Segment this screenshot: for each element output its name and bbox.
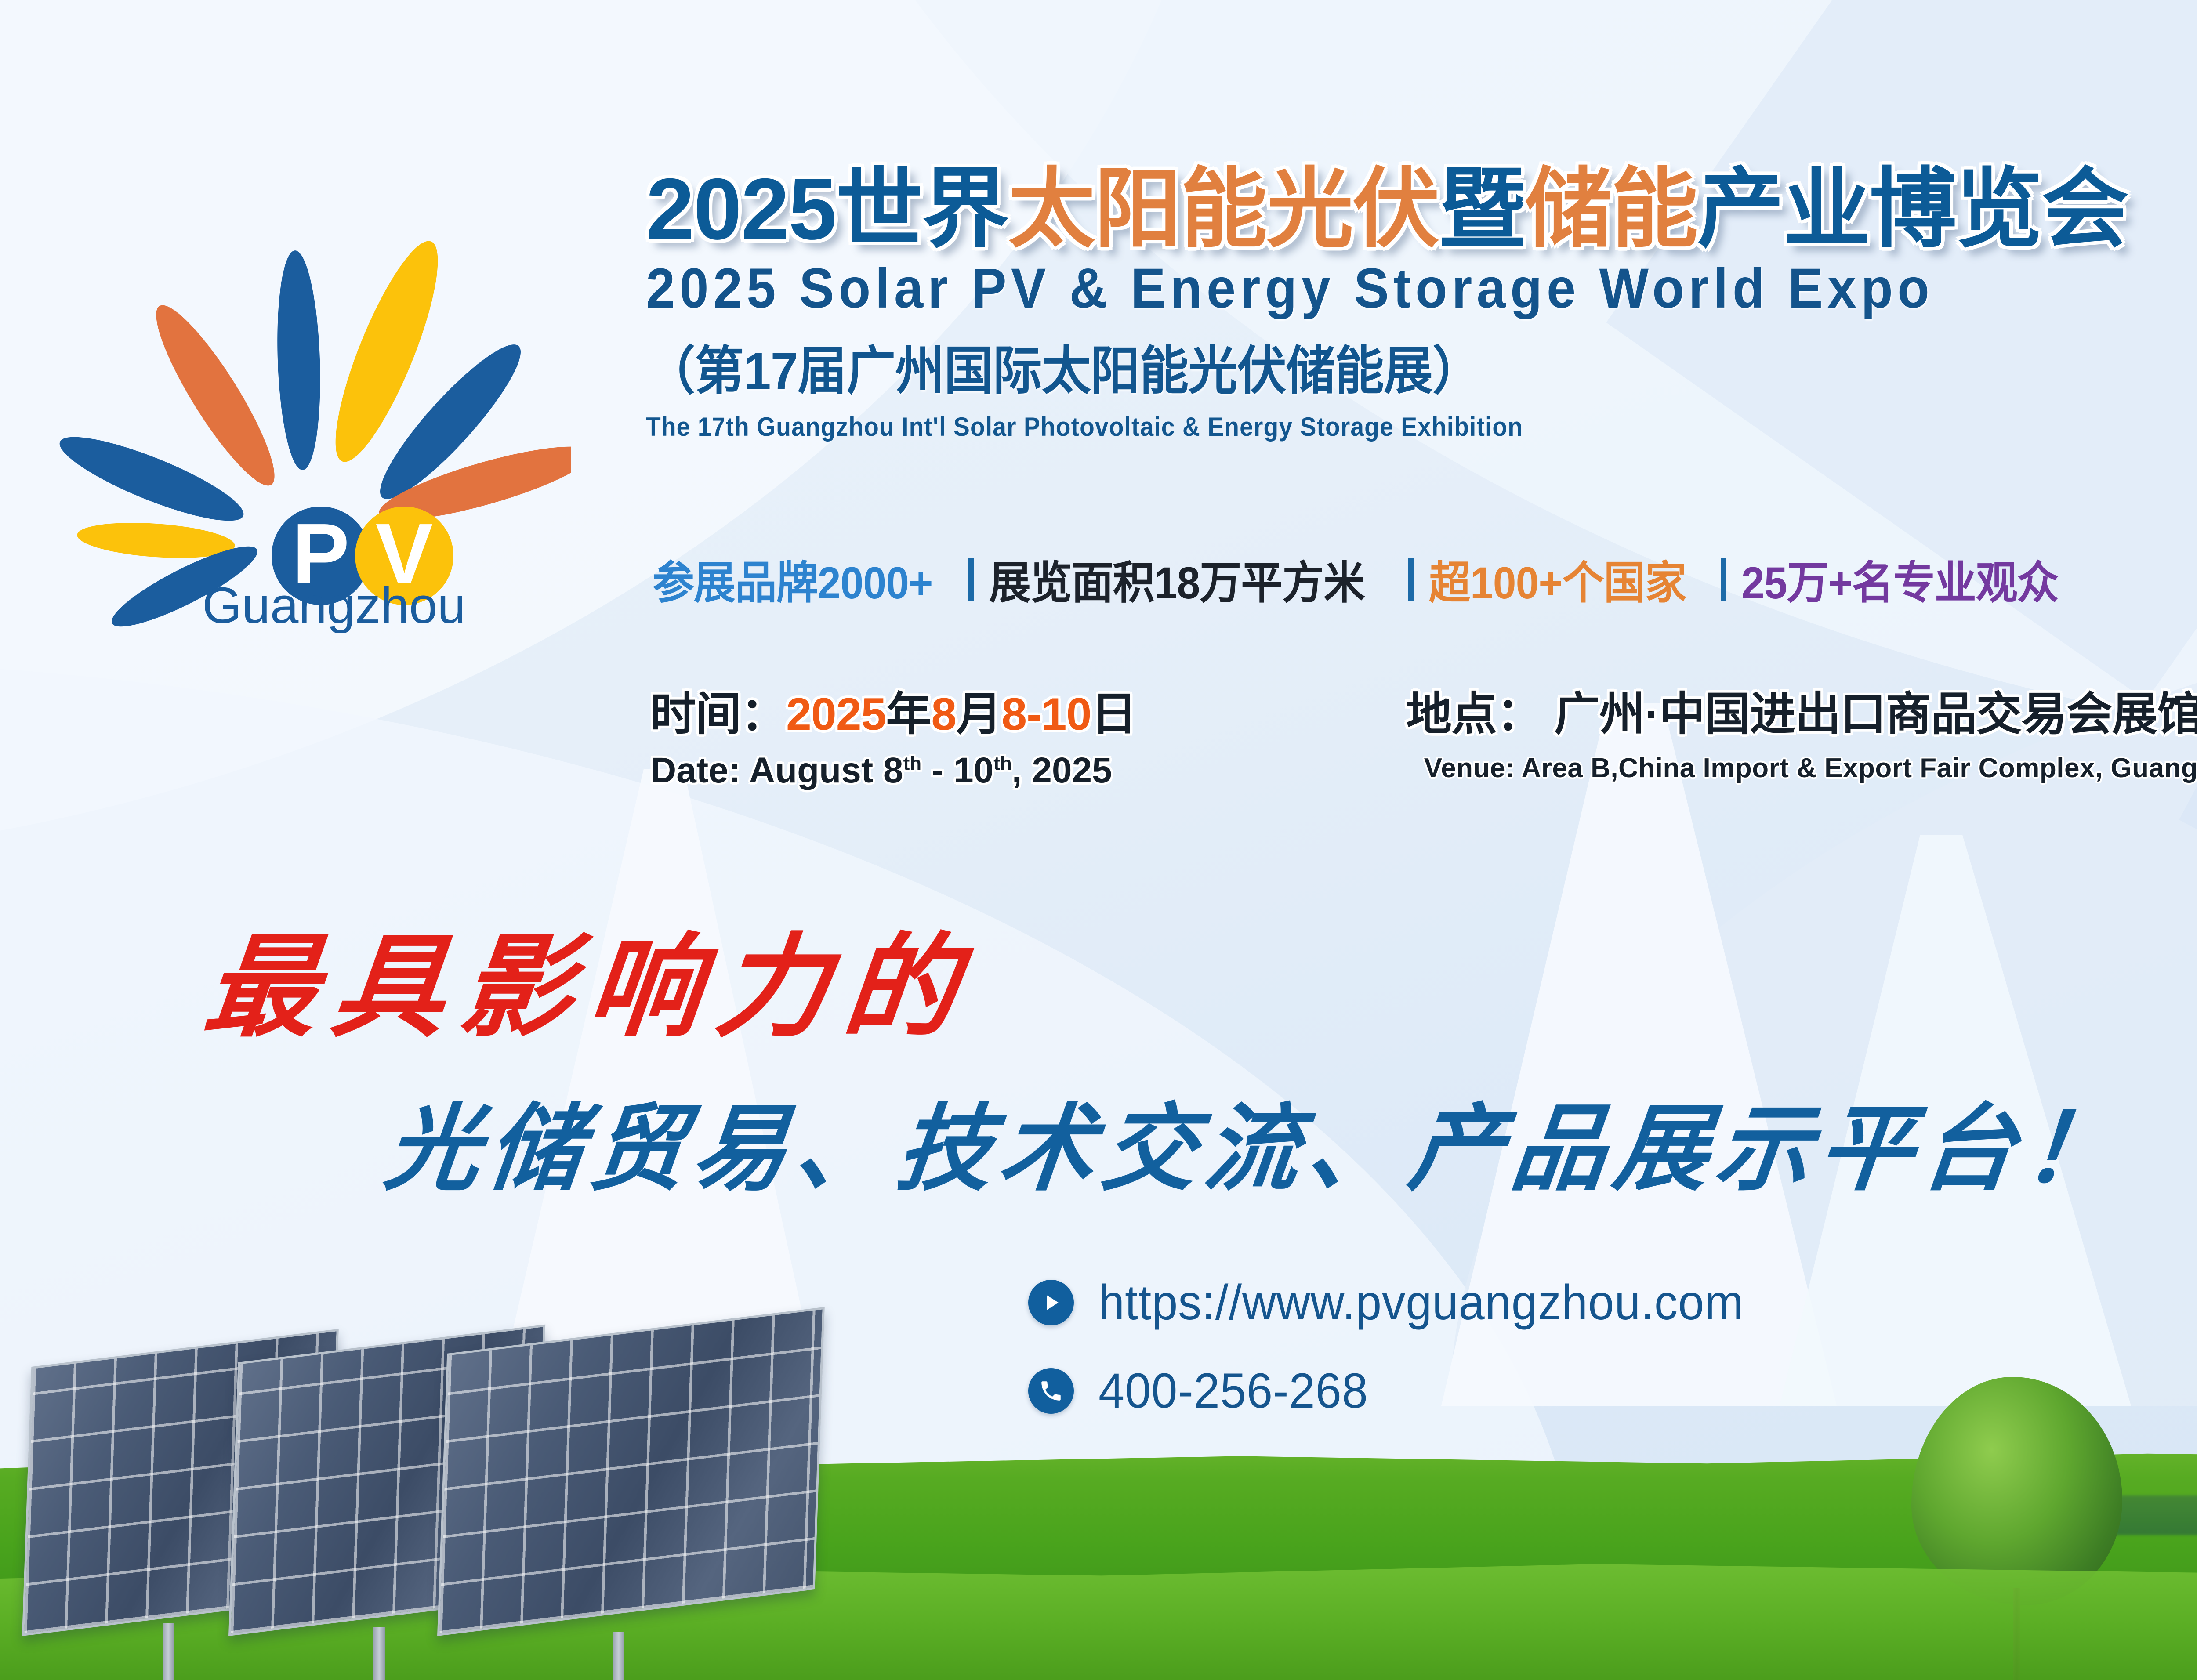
main-title-part-5: 产业博览会 [1697,160,2128,257]
stats-row: 参展品牌2000+ 展览面积18万平方米 超100+个国家 25万+名专业观众 [653,547,2082,612]
stat-separator [968,558,974,601]
date-label: 时间： [650,689,786,740]
main-title-part-1: 2025世界 [646,160,1008,257]
website-url[interactable]: https://www.pvguangzhou.com [1098,1274,1744,1331]
venue-english: Venue: Area B,China Import & Export Fair… [1406,753,2197,784]
stat-countries: 超100+个国家 [1429,547,1686,612]
phone-circle-icon [1028,1368,1074,1414]
date-english-prefix: Date: August 8 [650,750,903,790]
website-row[interactable]: https://www.pvguangzhou.com [1028,1274,1778,1331]
date-day-unit: 日 [1091,689,1136,740]
main-title: 2025世界太阳能光伏暨储能产业博览会 [646,165,2197,253]
main-title-part-3: 暨 [1439,160,1525,257]
date-month-unit: 月 [956,689,1001,740]
date-chinese: 时间：2025年8月8-10日 [650,677,1136,743]
main-title-part-2: 太阳能光伏 [1008,160,1439,257]
date-month: 8 [931,689,956,740]
main-title-part-4: 储能 [1525,160,1697,257]
pv-guangzhou-logo[interactable]: P V Guangzhou [53,176,571,633]
venue-chinese: 地点： 广州·中国进出口商品交易会展馆B区 [1406,677,2197,743]
stat-separator [1408,558,1414,601]
date-year-unit: 年 [886,689,931,740]
slogan-line-1: 最具影响力的 [198,896,982,1058]
date-ordinal-2: th [993,753,1012,775]
play-circle-icon [1028,1280,1074,1325]
date-english-suffix: , 2025 [1012,750,1112,790]
stat-exhibiting-brands: 参展品牌2000+ [653,547,933,612]
subtitle-chinese: （第17届广州国际太阳能光伏储能展） [646,329,2197,404]
contact-block: https://www.pvguangzhou.com 400-256-268 [1028,1274,1778,1419]
date-english: Date: August 8th - 10th, 2025 [650,750,1136,791]
stat-visitors: 25万+名专业观众 [1741,547,2059,612]
date-days: 8-10 [1001,689,1091,740]
stat-exhibition-area: 展览面积18万平方米 [989,547,1365,612]
main-title-english: 2025 Solar PV & Energy Storage World Exp… [646,256,2197,321]
date-english-mid: - 10 [921,750,993,790]
phone-row[interactable]: 400-256-268 [1028,1362,1778,1419]
venue-block: 地点： 广州·中国进出口商品交易会展馆B区 Venue: Area B,Chin… [1406,677,2197,784]
logo-city-label: Guangzhou [202,577,466,633]
logo-sunburst-icon: P V Guangzhou [53,176,571,633]
date-block: 时间：2025年8月8-10日 Date: August 8th - 10th,… [650,677,1136,791]
stat-separator [1721,558,1726,601]
title-block: 2025世界太阳能光伏暨储能产业博览会 2025 Solar PV & Ener… [646,165,2197,442]
date-ordinal-1: th [903,753,922,775]
date-year: 2025 [786,689,886,740]
subtitle-english: The 17th Guangzhou Int'l Solar Photovolt… [646,412,2197,442]
slogan-line-2: 光储贸易、技术交流、产品展示平台！ [380,1072,2135,1209]
phone-number[interactable]: 400-256-268 [1098,1362,1368,1419]
